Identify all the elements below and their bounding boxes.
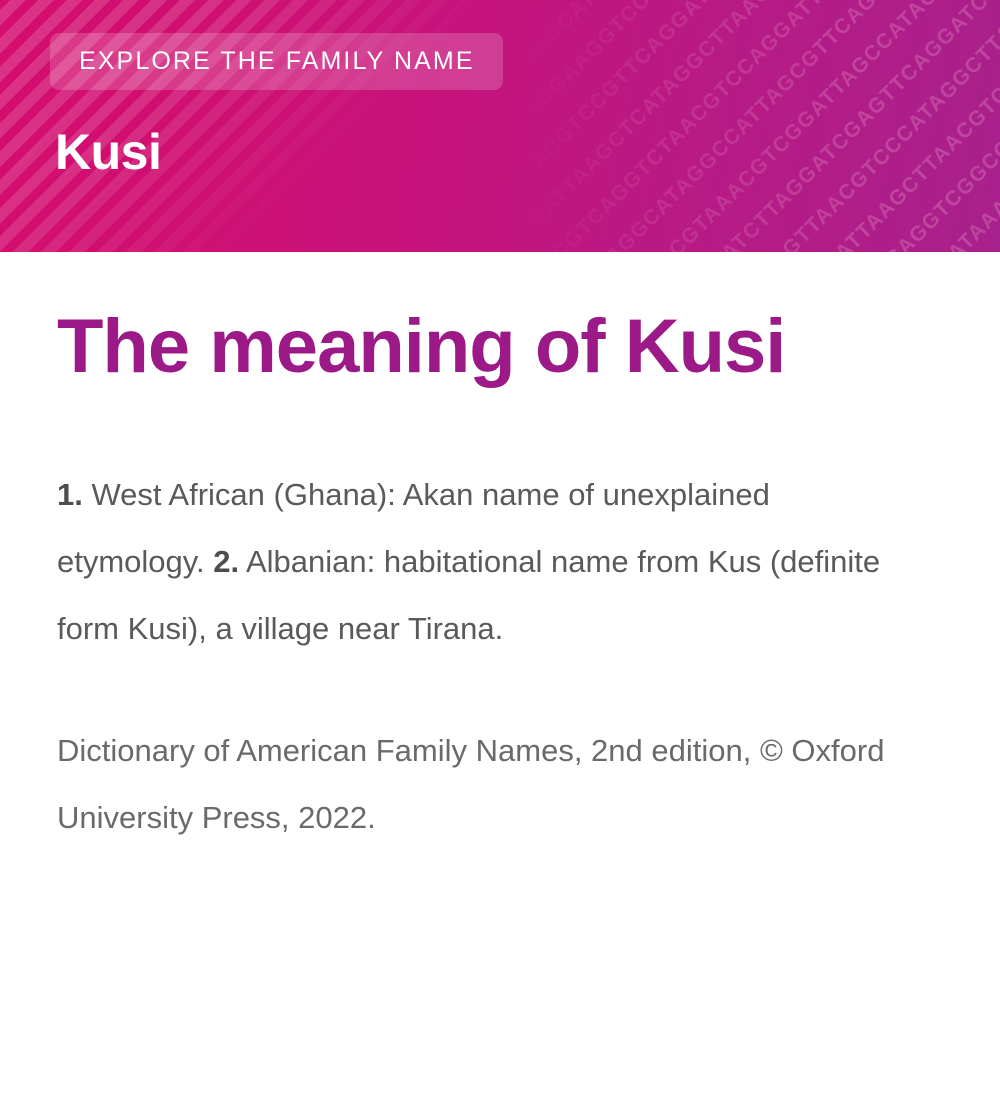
family-name-page: AGGCATAGTTAACATAGTTCGCCTTAGCGTCCAGGAAGGC… bbox=[0, 0, 1000, 1095]
eyebrow-label: EXPLORE THE FAMILY NAME bbox=[79, 47, 475, 76]
sense-number: 2. bbox=[213, 544, 239, 579]
hero-banner: AGGCATAGTTAACATAGTTCGCCTTAGCGTCCAGGAAGGC… bbox=[0, 0, 1000, 252]
definition-text: 1. West African (Ghana): Akan name of un… bbox=[57, 389, 887, 662]
explore-family-name-badge: EXPLORE THE FAMILY NAME bbox=[50, 33, 503, 90]
main-content: The meaning of Kusi 1. West African (Gha… bbox=[0, 252, 1000, 851]
source-citation: Dictionary of American Family Names, 2nd… bbox=[57, 662, 907, 851]
hero-content: EXPLORE THE FAMILY NAME Kusi bbox=[0, 0, 1000, 252]
meaning-heading: The meaning of Kusi bbox=[57, 252, 817, 389]
sense-number: 1. bbox=[57, 477, 83, 512]
family-name-title: Kusi bbox=[55, 122, 161, 182]
